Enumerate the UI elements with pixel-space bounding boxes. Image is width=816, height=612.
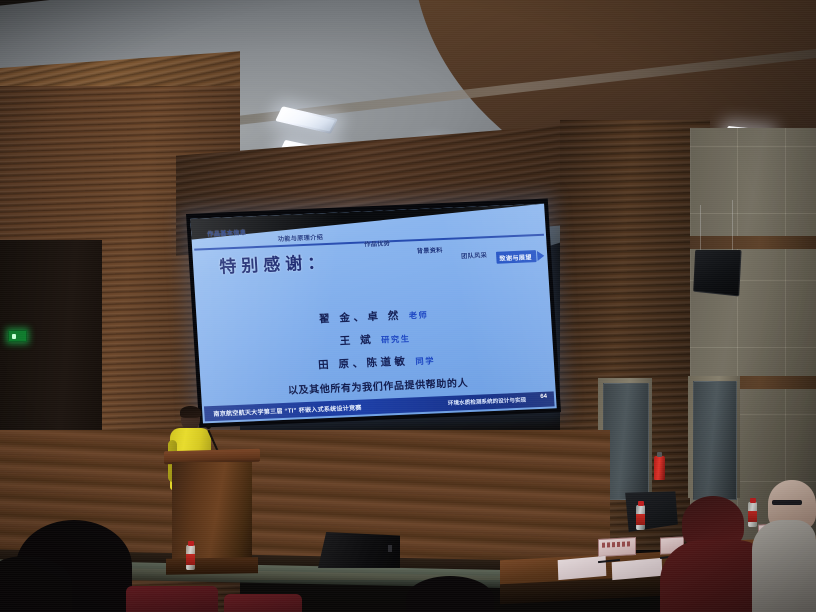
ack-role-1: 研究生 [381,334,411,344]
door[interactable] [693,381,737,500]
bottle-label [636,514,645,525]
ack-names-1: 王 斌 [339,334,374,347]
bottle-label [748,511,757,522]
exit-sign-icon [8,330,27,342]
microphone-icon [206,424,211,429]
ack-role-0: 老师 [409,311,429,321]
bottle-label [186,554,195,565]
stage-monitor-speaker [318,532,400,568]
conference-hall-photo: 作品基本信息 功能与原理介绍 作品优势 背景资料 团队风采 致谢与展望 特别感谢… [0,0,816,612]
footer-competition-name: 南京航空航天大学第三届 “TI” 杯嵌入式系统设计竞赛 [213,402,362,417]
slide-title: 特别感谢： [218,248,329,278]
wall-band-upper [690,236,816,249]
paper-sheet [558,556,607,580]
slide-surface: 作品基本信息 功能与原理介绍 作品优势 背景资料 团队风采 致谢与展望 特别感谢… [190,204,556,424]
nav-tab-0[interactable]: 作品基本信息 [207,227,246,238]
name-card [598,537,636,557]
ack-names-0: 翟 金、卓 然 [319,310,403,326]
nav-tab-2[interactable]: 作品优势 [364,238,390,248]
footer-project-title: 环境水质检测系统的设计与实现 [448,395,527,406]
ack-names-2: 田 原、陈道敏 [318,356,409,372]
nav-tab-1[interactable]: 功能与原理介绍 [277,232,323,243]
nav-arrow-icon [537,251,545,261]
audience-shoulders-right [752,520,816,612]
ack-role-2: 同学 [415,356,435,366]
podium-base [166,557,258,575]
presenter-hair [180,406,201,418]
glasses-icon [772,500,802,505]
hanging-speaker-icon [693,250,741,297]
seat [126,586,218,612]
footer-page-number: 64 [540,394,547,400]
bottle-cap [188,541,194,546]
water-bottle [748,502,757,527]
projection-screen: 作品基本信息 功能与原理介绍 作品优势 背景资料 团队风采 致谢与展望 特别感谢… [186,199,561,428]
bottle-cap [750,498,756,503]
water-bottle [636,505,645,530]
speaker-wire [700,205,701,253]
podium-body [172,462,252,562]
nav-tab-5-active[interactable]: 致谢与展望 [496,250,537,264]
fire-extinguisher-icon [654,456,665,480]
nav-tab-4[interactable]: 团队风采 [461,250,487,260]
bottle-cap [638,501,644,506]
podium [166,450,258,578]
water-bottle [186,545,195,570]
speaker-wire [732,200,733,252]
nav-tab-3[interactable]: 背景资料 [416,245,442,255]
seat [224,594,302,612]
